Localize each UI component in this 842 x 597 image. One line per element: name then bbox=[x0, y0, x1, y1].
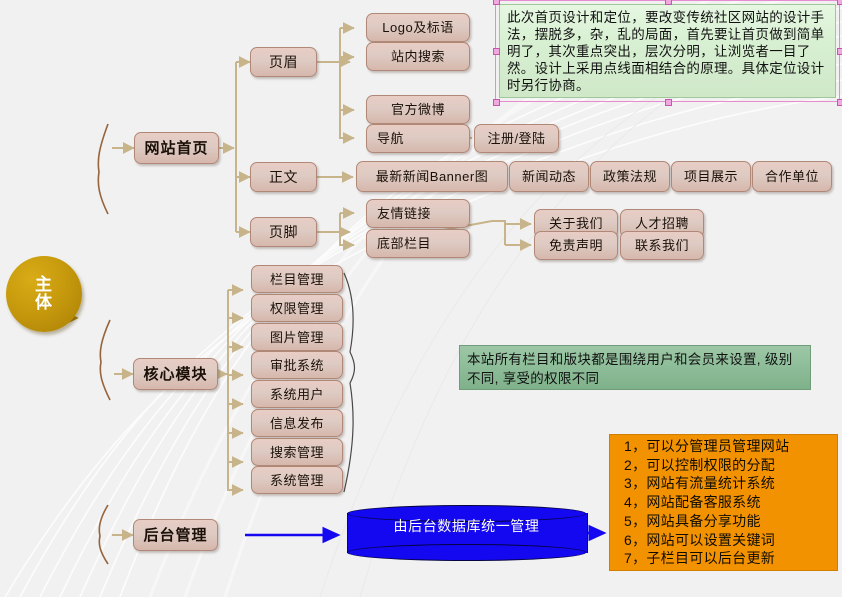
node-logo-slogan[interactable]: Logo及标语 bbox=[366, 13, 470, 42]
node-approval-system[interactable]: 审批系统 bbox=[251, 351, 343, 379]
resize-handle-mr[interactable] bbox=[837, 48, 842, 55]
node-body-section[interactable]: 正文 bbox=[250, 162, 317, 192]
node-official-weibo[interactable]: 官方微博 bbox=[366, 95, 470, 124]
orange-list-item-7: 7，子栏目可以后台更新 bbox=[624, 549, 837, 568]
node-bottom-columns[interactable]: 底部栏目 bbox=[366, 229, 470, 258]
database-label: 由后台数据库统一管理 bbox=[347, 516, 586, 536]
node-site-home[interactable]: 网站首页 bbox=[134, 132, 219, 164]
node-permission-mgmt[interactable]: 权限管理 bbox=[251, 294, 343, 322]
node-footer-section[interactable]: 页脚 bbox=[250, 217, 317, 247]
resize-handle-ml[interactable] bbox=[493, 48, 500, 55]
node-policy-law[interactable]: 政策法规 bbox=[590, 161, 670, 192]
root-label-line2: 体 bbox=[35, 294, 53, 312]
note-green-mid[interactable]: 本站所有栏目和版块都是围绕用户和会员来设置, 级别不同, 享受的权限不同 bbox=[459, 345, 811, 390]
node-header-section[interactable]: 页眉 bbox=[250, 47, 317, 77]
node-system-users[interactable]: 系统用户 bbox=[251, 380, 343, 408]
node-core-modules[interactable]: 核心模块 bbox=[133, 358, 218, 390]
orange-list-item-5: 5，网站具备分享功能 bbox=[624, 512, 837, 531]
node-project-showcase[interactable]: 项目展示 bbox=[671, 161, 751, 192]
node-search-mgmt[interactable]: 搜索管理 bbox=[251, 438, 343, 466]
node-news-updates[interactable]: 新闻动态 bbox=[509, 161, 589, 192]
note-green-top-selection bbox=[495, 0, 840, 102]
cylinder-bottom bbox=[347, 544, 586, 561]
node-navigation[interactable]: 导航 bbox=[366, 124, 470, 153]
node-system-mgmt[interactable]: 系统管理 bbox=[251, 466, 343, 494]
resize-handle-tr[interactable] bbox=[837, 0, 842, 5]
node-info-publish[interactable]: 信息发布 bbox=[251, 409, 343, 437]
resize-handle-bc[interactable] bbox=[665, 99, 672, 106]
diagram-canvas: 主 体 网站首页 核心模块 后台管理 页眉 正文 页脚 Logo及标语 站内搜索… bbox=[0, 0, 842, 597]
node-site-search[interactable]: 站内搜索 bbox=[366, 42, 470, 71]
database-cylinder[interactable]: 由后台数据库统一管理 bbox=[347, 505, 586, 561]
resize-handle-tl[interactable] bbox=[493, 0, 500, 5]
orange-list-item-1: 1，可以分管理员管理网站 bbox=[624, 437, 837, 456]
node-partners[interactable]: 合作单位 bbox=[752, 161, 832, 192]
node-backend-admin[interactable]: 后台管理 bbox=[133, 519, 218, 551]
node-disclaimer[interactable]: 免责声明 bbox=[534, 231, 618, 260]
node-image-mgmt[interactable]: 图片管理 bbox=[251, 323, 343, 351]
node-news-banner[interactable]: 最新新闻Banner图 bbox=[356, 161, 508, 192]
orange-list-item-4: 4，网站配备客服系统 bbox=[624, 493, 837, 512]
orange-list-item-6: 6，网站可以设置关键词 bbox=[624, 531, 837, 550]
root-label-line1: 主 bbox=[35, 276, 53, 294]
orange-list-item-3: 3，网站有流量统计系统 bbox=[624, 474, 837, 493]
resize-handle-bl[interactable] bbox=[493, 99, 500, 106]
resize-handle-br[interactable] bbox=[837, 99, 842, 106]
node-column-mgmt[interactable]: 栏目管理 bbox=[251, 265, 343, 293]
note-orange-list[interactable]: 1，可以分管理员管理网站 2，可以控制权限的分配 3，网站有流量统计系统 4，网… bbox=[609, 434, 838, 571]
node-register-login[interactable]: 注册/登陆 bbox=[474, 124, 559, 153]
node-contact-us[interactable]: 联系我们 bbox=[620, 231, 704, 260]
root-node-main-body[interactable]: 主 体 bbox=[6, 256, 82, 332]
orange-list-item-2: 2，可以控制权限的分配 bbox=[624, 456, 837, 475]
resize-handle-tc[interactable] bbox=[665, 0, 672, 5]
node-friend-links[interactable]: 友情链接 bbox=[366, 199, 470, 228]
